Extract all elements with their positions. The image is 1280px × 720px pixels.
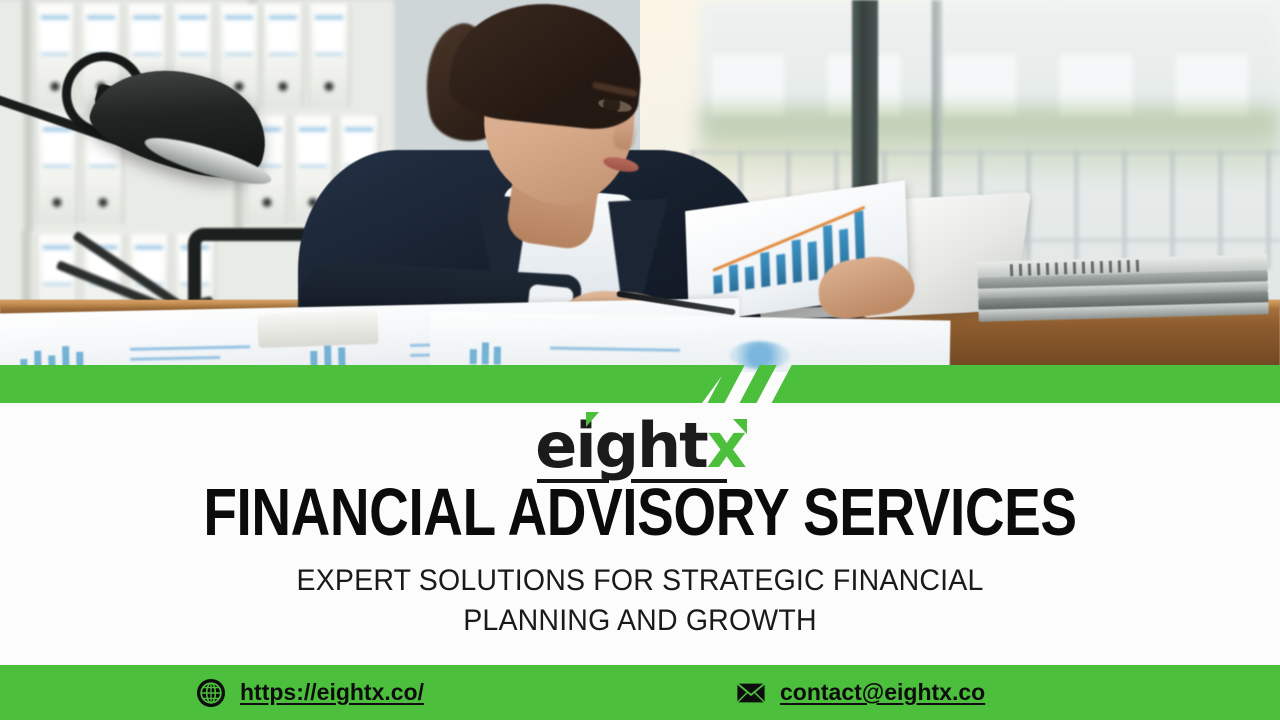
page-subtitle: EXPERT SOLUTIONS FOR STRATEGIC FINANCIAL… [0, 561, 1280, 641]
logo-text-t: t [679, 409, 707, 482]
logo-arrow-icon [733, 419, 747, 434]
subtitle-line-1: EXPERT SOLUTIONS FOR STRATEGIC FINANCIAL [32, 561, 1248, 601]
website-label: https://eightx.co/ [240, 679, 424, 706]
hero-photo [0, 0, 1280, 372]
page-title: FINANCIAL ADVISORY SERVICES [115, 479, 1165, 546]
contact-footer: https://eightx.co/ contact@eightx.co [0, 665, 1280, 720]
subtitle-line-2: PLANNING AND GROWTH [32, 601, 1248, 641]
divider-right-bar [780, 365, 1280, 403]
globe-icon [196, 678, 226, 708]
email-link[interactable]: contact@eightx.co [736, 678, 985, 708]
presentation-slide: eightx FINANCIAL ADVISORY SERVICES EXPER… [0, 0, 1280, 720]
calculator [257, 310, 378, 348]
hair [446, 0, 648, 134]
website-link[interactable]: https://eightx.co/ [196, 678, 424, 708]
email-label: contact@eightx.co [780, 679, 985, 706]
logo-green-tick-icon [586, 412, 599, 427]
logo-text-eigh: eigh [535, 409, 679, 482]
envelope-icon [736, 678, 766, 708]
divider-left-bar [0, 365, 730, 403]
desk-papers-secondary [430, 311, 951, 372]
slide-content: eightx FINANCIAL ADVISORY SERVICES EXPER… [0, 403, 1280, 665]
